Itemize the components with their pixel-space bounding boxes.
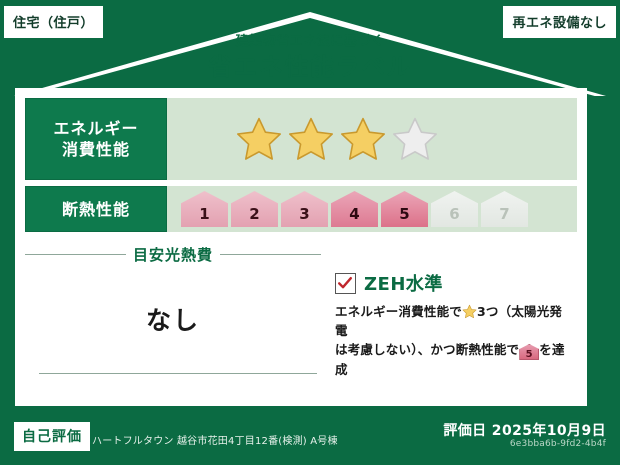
- estimated-utility-cost-heading: 目安光熱費: [25, 244, 321, 265]
- lower-section: 目安光熱費 なし ZEH水準 エネルギー消費性能で: [25, 240, 577, 388]
- evaluation-id: 6e3bba6b-9fd2-4b4f: [510, 439, 606, 449]
- zeh-description: エネルギー消費性能で 3つ（太陽光発電 は考慮しない）、かつ断熱性能で5を達成: [335, 302, 573, 379]
- star-icon-empty-4: [391, 115, 439, 163]
- star-icon-filled-3: [339, 115, 387, 163]
- estimated-utility-cost-bottom-rule: [39, 373, 317, 374]
- insulation-level-5: 5: [381, 191, 428, 227]
- tag-renewable-equipment: 再エネ設備なし: [503, 6, 616, 38]
- check-icon: [337, 275, 353, 291]
- label-panel: エネルギー 消費性能: [15, 88, 587, 406]
- insulation-level-4-text: 4: [349, 205, 359, 223]
- row-insulation-performance: 断熱性能 1 2 3 4 5: [25, 186, 577, 232]
- insulation-level-1: 1: [181, 191, 228, 227]
- heading-rule-left: [25, 254, 126, 255]
- zeh-title: ZEH水準: [364, 270, 443, 296]
- property-name: ハートフルタウン 越谷市花田4丁目12番(検測) A号棟: [92, 432, 338, 447]
- insulation-level-2-text: 2: [249, 205, 259, 223]
- zeh-desc-part1: エネルギー消費性能で: [335, 304, 462, 319]
- star-icon-filled-1: [235, 115, 283, 163]
- insulation-performance-label-box: 断熱性能: [25, 186, 167, 232]
- energy-performance-label-box: エネルギー 消費性能: [25, 98, 167, 180]
- tag-building-type: 住宅（住戸）: [4, 6, 103, 38]
- zeh-desc-part2: は考慮しない）、かつ断熱性能で: [335, 342, 519, 357]
- insulation-level-4: 4: [331, 191, 378, 227]
- estimated-utility-cost-section: 目安光熱費 なし: [25, 240, 321, 388]
- self-evaluation-badge: 自己評価: [14, 422, 90, 451]
- energy-label-line2: 消費性能: [53, 139, 138, 160]
- insulation-level-3: 3: [281, 191, 328, 227]
- insulation-level-3-text: 3: [299, 205, 309, 223]
- energy-performance-value-box: [167, 98, 577, 180]
- insulation-level-6-text: 6: [449, 205, 459, 223]
- estimated-utility-cost-title: 目安光熱費: [133, 244, 213, 265]
- zeh-section: ZEH水準 エネルギー消費性能で 3つ（太陽光発電 は考慮しない）、かつ断熱性能…: [321, 240, 577, 388]
- insulation-level-1-text: 1: [199, 205, 209, 223]
- star-rating: [235, 115, 439, 163]
- header-title: 省エネ性能ラベル: [0, 52, 620, 82]
- house-icon-inline: 5: [519, 344, 539, 360]
- insulation-level-6: 6: [431, 191, 478, 227]
- label-header: 建築物省エネ法に基づく 省エネ性能ラベル: [0, 34, 620, 82]
- energy-performance-label: 住宅（住戸） 再エネ設備なし 建築物省エネ法に基づく 省エネ性能ラベル エネルギ…: [0, 0, 620, 465]
- zeh-heading: ZEH水準: [335, 270, 573, 296]
- insulation-level-scale: 1 2 3 4 5 6: [181, 191, 528, 227]
- star-icon-filled-2: [287, 115, 335, 163]
- evaluation-date: 評価日 2025年10月9日: [443, 420, 606, 440]
- zeh-checkbox[interactable]: [335, 273, 356, 294]
- row-energy-performance: エネルギー 消費性能: [25, 98, 577, 180]
- insulation-level-7-text: 7: [499, 205, 509, 223]
- label-footer: 自己評価 ハートフルタウン 越谷市花田4丁目12番(検測) A号棟 評価日 20…: [0, 406, 620, 465]
- insulation-level-2: 2: [231, 191, 278, 227]
- insulation-performance-value-box: 1 2 3 4 5 6: [167, 186, 577, 232]
- estimated-utility-cost-value: なし: [25, 301, 321, 337]
- insulation-level-5-text: 5: [399, 205, 409, 223]
- heading-rule-right: [220, 254, 321, 255]
- insulation-level-7: 7: [481, 191, 528, 227]
- star-icon-inline: [462, 304, 477, 319]
- energy-label-line1: エネルギー: [53, 118, 138, 139]
